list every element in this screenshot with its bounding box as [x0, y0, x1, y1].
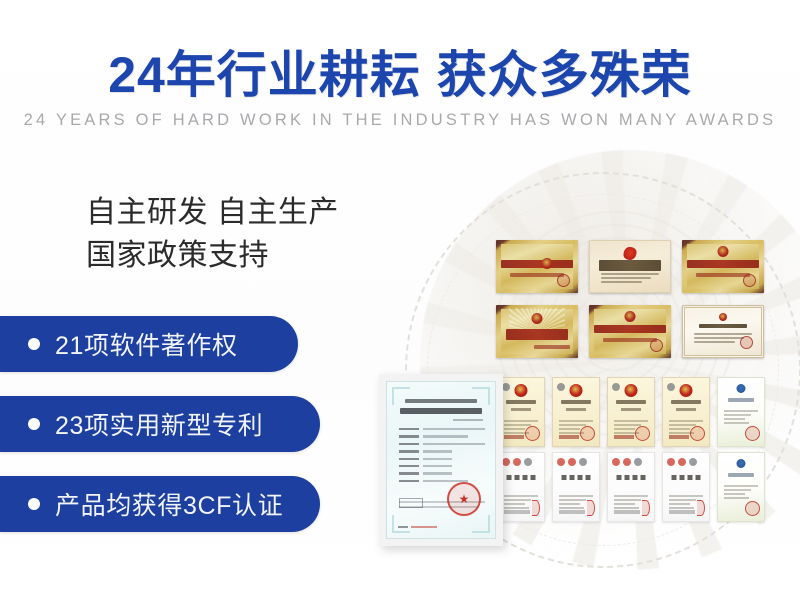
test-report[interactable] [607, 452, 655, 522]
plaque-title-band [501, 260, 573, 268]
red-seal-icon [525, 426, 540, 441]
national-emblem-icon [680, 384, 693, 397]
page-subtitle: 24 YEARS OF HARD WORK IN THE INDUSTRY HA… [0, 111, 800, 130]
patent-certificate[interactable] [552, 377, 600, 447]
certificate-header-stamps [557, 383, 565, 391]
pill-label: 产品均获得3CF认证 [55, 486, 283, 522]
red-seal-icon [745, 501, 760, 516]
certificate-header-stamps [502, 383, 510, 391]
national-emblem-icon [625, 384, 638, 397]
honor-certificate[interactable] [717, 452, 765, 522]
certificate-name-band [621, 408, 641, 411]
certificate-footer-band [669, 435, 689, 439]
round-emblem-icon [532, 313, 543, 324]
award-plaque[interactable] [496, 240, 578, 293]
certificate-heading-band [616, 400, 646, 404]
patent-certificate[interactable] [607, 377, 655, 447]
highlight-pill-3cf-certification[interactable]: 产品均获得3CF认证 [0, 476, 320, 532]
certificate-corner-ornament [472, 515, 490, 533]
certificate-title-blocks [672, 475, 701, 480]
certificate-title-blocks [507, 475, 536, 480]
red-seal-icon [532, 500, 540, 516]
lead-line-1: 自主研发 自主生产 [86, 192, 339, 235]
headline-part-1: 24年行业耕耘 [108, 47, 421, 103]
certificate-footer-band [614, 435, 634, 439]
award-plaque[interactable] [496, 305, 578, 358]
round-emblem-icon [541, 258, 552, 269]
headline-part-2: 获众多殊荣 [437, 47, 692, 103]
round-emblem-icon [625, 311, 636, 322]
certificate-field-list [399, 428, 485, 487]
plaque-subtitle-band [696, 273, 750, 277]
red-seal-icon [580, 426, 595, 441]
certificate-footer-band [559, 510, 585, 514]
red-seal-icon [690, 426, 705, 441]
certificate-serial-number [398, 526, 437, 528]
patent-certificate[interactable] [497, 377, 545, 447]
seal-star-icon: ★ [459, 493, 470, 505]
red-seal-icon [642, 500, 650, 516]
pill-label: 21项软件著作权 [55, 326, 238, 362]
plaque-text-lines [601, 271, 659, 285]
header-block: 24年行业耕耘获众多殊荣 24 YEARS OF HARD WORK IN TH… [0, 48, 800, 130]
round-emblem-icon [718, 246, 729, 257]
patent-certificates-row [497, 377, 765, 447]
test-report[interactable] [497, 452, 545, 522]
test-report-row [497, 452, 765, 522]
red-official-seal-icon: ★ [447, 482, 481, 516]
national-emblem-icon [515, 384, 528, 397]
certificate-footer-band [504, 435, 524, 439]
certificate-heading-band [506, 400, 536, 404]
test-report[interactable] [552, 452, 600, 522]
certificate-footer-band [669, 510, 695, 514]
plaque-subtitle-band [534, 345, 570, 349]
highlight-pill-utility-patents[interactable]: 23项实用新型专利 [0, 396, 320, 452]
certificate-heading-band [728, 398, 754, 402]
certificate-name-band [511, 408, 531, 411]
plaque-seal-icon [740, 336, 753, 349]
certificate-footer-band [559, 435, 579, 439]
certificate-header-stamps [667, 383, 675, 391]
national-emblem-icon [570, 384, 583, 397]
certificate-header-stamps [612, 383, 620, 391]
certificate-corner-ornament [392, 515, 410, 533]
certificate-heading-band [671, 400, 701, 404]
certificate-heading-band [728, 473, 754, 477]
certificate-header-stamps [667, 458, 697, 466]
certificate-title-band [400, 408, 482, 414]
certificate-issuer-band [405, 399, 477, 403]
pill-label: 23项实用新型专利 [55, 406, 263, 442]
dot-bullet-icon [28, 498, 40, 510]
red-seal-icon [635, 426, 650, 441]
featured-certificate-page: ★ [386, 381, 496, 539]
plaque-subtitle-band [603, 338, 657, 342]
highlight-pill-software-copyright[interactable]: 21项软件著作权 [0, 316, 298, 372]
patent-certificate[interactable] [662, 377, 710, 447]
award-plaque[interactable] [589, 305, 671, 358]
dot-bullet-icon [28, 338, 40, 350]
plaque-seal-icon [743, 274, 756, 287]
certificate-number-band [453, 419, 483, 421]
red-seal-icon [587, 500, 595, 516]
award-plaque-grid [496, 240, 768, 358]
honor-certificate[interactable] [717, 377, 765, 447]
plaque-seal-icon [557, 274, 570, 287]
plaque-seal-icon [650, 339, 663, 352]
certificate-header-stamps [557, 458, 587, 466]
award-plaque[interactable] [682, 240, 764, 293]
plaque-title-band [687, 260, 759, 268]
round-emblem-icon [719, 313, 727, 321]
certificate-footer-band [504, 510, 530, 514]
red-seal-icon [697, 500, 705, 516]
plaque-subtitle-band [510, 273, 564, 277]
red-flame-emblem-icon [624, 247, 637, 260]
promo-banner: 24年行业耕耘获众多殊荣 24 YEARS OF HARD WORK IN TH… [0, 0, 800, 592]
award-plaque[interactable] [682, 305, 764, 358]
plaque-title-band [594, 325, 666, 333]
certificate-title-blocks [617, 475, 646, 480]
certificate-header-stamps [502, 458, 532, 466]
certificate-title-blocks [562, 475, 591, 480]
certificate-footer-band [614, 510, 640, 514]
plaque-title-band [699, 324, 747, 328]
featured-certificate[interactable]: ★ [379, 374, 503, 546]
certificate-name-band [676, 408, 696, 411]
award-plaque[interactable] [589, 240, 671, 293]
certificate-name-band [566, 408, 586, 411]
dot-bullet-icon [28, 418, 40, 430]
honor-emblem-icon [737, 459, 746, 468]
certificate-heading-band [561, 400, 591, 404]
certificate-text-lines [724, 483, 758, 501]
red-seal-icon [745, 426, 760, 441]
page-title: 24年行业耕耘获众多殊荣 [0, 48, 800, 102]
plaque-title-band [599, 260, 661, 271]
lead-text: 自主研发 自主生产 国家政策支持 [86, 192, 339, 277]
lead-line-2: 国家政策支持 [86, 235, 339, 278]
certificate-text-lines [724, 408, 758, 426]
certificate-header-stamps [612, 458, 642, 466]
certificate-stamp-box [399, 498, 423, 508]
test-report[interactable] [662, 452, 710, 522]
highlight-pill-list: 21项软件著作权 23项实用新型专利 产品均获得3CF认证 [0, 316, 400, 556]
honor-emblem-icon [737, 384, 746, 393]
plaque-title-band [506, 329, 568, 340]
